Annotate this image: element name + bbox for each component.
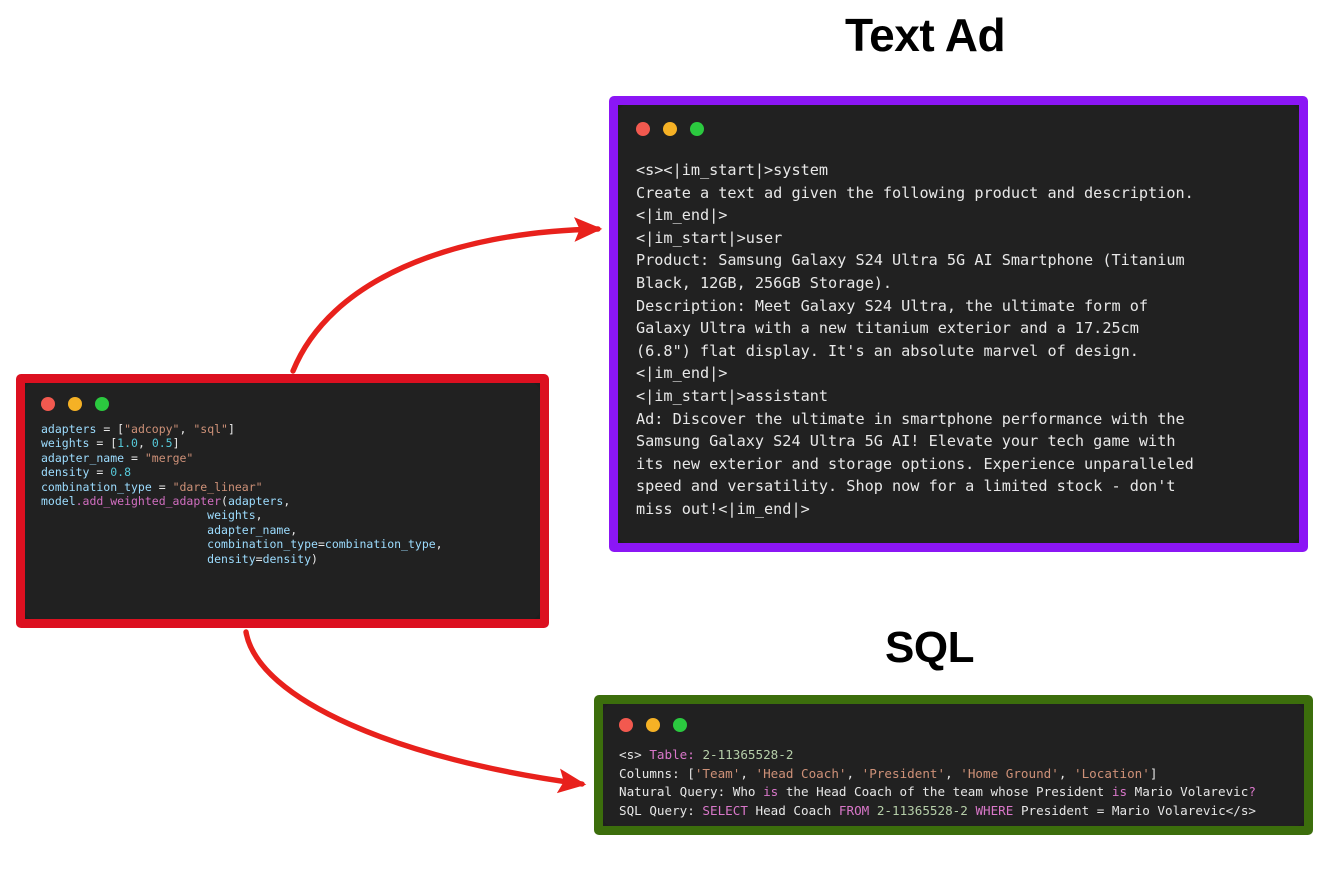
code-token: weights <box>207 508 255 522</box>
code-line: Ad: Discover the ultimate in smartphone … <box>636 408 1281 431</box>
code-line: SQL Query: SELECT Head Coach FROM 2-1136… <box>619 802 1288 821</box>
code-token: , <box>740 766 755 781</box>
code-token: ] <box>228 422 235 436</box>
code-token: ( <box>221 494 228 508</box>
code-line: adapter_name, <box>41 523 524 537</box>
code-line: adapter_name = "merge" <box>41 451 524 465</box>
merge-code-terminal: adapters = ["adcopy", "sql"]weights = [1… <box>16 374 549 628</box>
code-line: weights = [1.0, 0.5] <box>41 436 524 450</box>
code-token: its new exterior and storage options. Ex… <box>636 455 1194 473</box>
code-token: President = Mario Volarevic</s> <box>1013 803 1256 818</box>
code-token: density <box>207 552 255 566</box>
code-token: Description: Meet Galaxy S24 Ultra, the … <box>636 297 1148 315</box>
code-token: model <box>41 494 76 508</box>
code-line: <|im_end|> <box>636 362 1281 385</box>
code-line: weights, <box>41 508 524 522</box>
code-token: = [ <box>103 422 124 436</box>
code-line: density=density) <box>41 552 524 566</box>
code-line: Natural Query: Who is the Head Coach of … <box>619 783 1288 802</box>
code-line: <s> Table: 2-11365528-2 <box>619 746 1288 765</box>
code-line: Description: Meet Galaxy S24 Ultra, the … <box>636 295 1281 318</box>
code-token <box>869 803 877 818</box>
code-token: ] <box>173 436 180 450</box>
code-line: <|im_start|>user <box>636 227 1281 250</box>
code-token: "sql" <box>193 422 228 436</box>
sql-prompt-terminal: <s> Table: 2-11365528-2Columns: ['Team',… <box>594 695 1313 835</box>
code-token: <|im_end|> <box>636 364 727 382</box>
code-token: = [ <box>96 436 117 450</box>
sql-code-block: <s> Table: 2-11365528-2Columns: ['Team',… <box>619 746 1288 820</box>
maximize-dot[interactable] <box>690 122 704 136</box>
code-line: Galaxy Ultra with a new titanium exterio… <box>636 317 1281 340</box>
code-token: 'Team' <box>695 766 741 781</box>
code-token: = <box>159 480 173 494</box>
code-token: = <box>256 552 263 566</box>
code-line: speed and versatility. Shop now for a li… <box>636 475 1281 498</box>
code-token: (6.8") flat display. It's an absolute ma… <box>636 342 1139 360</box>
code-token: "merge" <box>145 451 193 465</box>
code-token: Table: <box>649 747 695 762</box>
textad-terminal-body: <s><|im_start|>systemCreate a text ad gi… <box>618 105 1299 543</box>
arrow-merge-to-textad <box>293 229 598 371</box>
code-token: Mario Volarevic <box>1127 784 1248 799</box>
code-token: Head Coach <box>748 803 839 818</box>
minimize-dot[interactable] <box>646 718 660 732</box>
code-token: is <box>763 784 778 799</box>
code-line: Black, 12GB, 256GB Storage). <box>636 272 1281 295</box>
code-token: Samsung Galaxy S24 Ultra 5G AI! Elevate … <box>636 432 1175 450</box>
code-token: weights <box>41 436 96 450</box>
code-token: 'President' <box>862 766 945 781</box>
code-token: density <box>41 465 96 479</box>
code-token: density <box>263 552 311 566</box>
code-token: 'Location' <box>1074 766 1150 781</box>
code-token: Natural Query: Who <box>619 784 763 799</box>
page-title-text-ad: Text Ad <box>845 8 1005 62</box>
code-line: <|im_end|> <box>636 204 1281 227</box>
code-token: , <box>283 494 290 508</box>
code-line: its new exterior and storage options. Ex… <box>636 453 1281 476</box>
code-line: Samsung Galaxy S24 Ultra 5G AI! Elevate … <box>636 430 1281 453</box>
merge-code-block: adapters = ["adcopy", "sql"]weights = [1… <box>41 422 524 566</box>
minimize-dot[interactable] <box>68 397 82 411</box>
code-token: = <box>96 465 110 479</box>
close-dot[interactable] <box>636 122 650 136</box>
code-token: adapter_name <box>207 523 290 537</box>
code-token: Black, 12GB, 256GB Storage). <box>636 274 892 292</box>
code-token: adapter_name <box>41 451 131 465</box>
code-token: miss out!<|im_end|> <box>636 500 810 518</box>
code-token: combination_type <box>41 480 159 494</box>
code-line: combination_type = "dare_linear" <box>41 480 524 494</box>
code-token <box>41 523 207 537</box>
code-token: , <box>290 523 297 537</box>
code-line: <s><|im_start|>system <box>636 159 1281 182</box>
sql-terminal-body: <s> Table: 2-11365528-2Columns: ['Team',… <box>603 704 1304 826</box>
code-token: <|im_start|>user <box>636 229 782 247</box>
code-token: "dare_linear" <box>173 480 263 494</box>
code-token: WHERE <box>975 803 1013 818</box>
code-token: SQL Query: <box>619 803 702 818</box>
textad-prompt-terminal: <s><|im_start|>systemCreate a text ad gi… <box>609 96 1308 552</box>
code-token: Product: Samsung Galaxy S24 Ultra 5G AI … <box>636 251 1185 269</box>
code-line: (6.8") flat display. It's an absolute ma… <box>636 340 1281 363</box>
minimize-dot[interactable] <box>663 122 677 136</box>
code-token: <|im_end|> <box>636 206 727 224</box>
code-token: ] <box>1150 766 1158 781</box>
code-token: speed and versatility. Shop now for a li… <box>636 477 1175 495</box>
code-token: combination_type <box>325 537 436 551</box>
code-token: Columns: [ <box>619 766 695 781</box>
code-token: <s> <box>619 747 649 762</box>
code-token: .add_weighted_adapter <box>76 494 221 508</box>
code-token: adapters <box>228 494 283 508</box>
code-line: Columns: ['Team', 'Head Coach', 'Preside… <box>619 765 1288 784</box>
code-token <box>41 552 207 566</box>
code-token: Galaxy Ultra with a new titanium exterio… <box>636 319 1139 337</box>
code-token: is <box>1112 784 1127 799</box>
code-token: FROM <box>839 803 869 818</box>
window-controls <box>41 396 524 412</box>
code-token: , <box>1059 766 1074 781</box>
code-line: combination_type=combination_type, <box>41 537 524 551</box>
code-token: adapters <box>41 422 103 436</box>
code-token <box>41 508 207 522</box>
textad-code-block: <s><|im_start|>systemCreate a text ad gi… <box>636 159 1281 521</box>
code-token: <|im_start|>assistant <box>636 387 828 405</box>
code-token: 0.5 <box>152 436 173 450</box>
code-line: Product: Samsung Galaxy S24 Ultra 5G AI … <box>636 249 1281 272</box>
window-controls <box>619 717 1288 733</box>
code-token: ) <box>311 552 318 566</box>
code-token: = <box>131 451 145 465</box>
code-token: , <box>179 422 193 436</box>
code-token: , <box>256 508 263 522</box>
code-token: Create a text ad given the following pro… <box>636 184 1194 202</box>
code-token: ? <box>1248 784 1256 799</box>
code-token: 'Home Ground' <box>960 766 1059 781</box>
code-line: adapters = ["adcopy", "sql"] <box>41 422 524 436</box>
code-line: miss out!<|im_end|> <box>636 498 1281 521</box>
code-token: , <box>847 766 862 781</box>
code-token: , <box>436 537 443 551</box>
merge-terminal-body: adapters = ["adcopy", "sql"]weights = [1… <box>25 383 540 619</box>
code-token: , <box>945 766 960 781</box>
code-line: density = 0.8 <box>41 465 524 479</box>
code-token: , <box>138 436 152 450</box>
code-token: "adcopy" <box>124 422 179 436</box>
window-controls <box>636 121 1281 137</box>
close-dot[interactable] <box>619 718 633 732</box>
maximize-dot[interactable] <box>95 397 109 411</box>
code-token: = <box>318 537 325 551</box>
page-title-sql: SQL <box>885 623 974 673</box>
code-token: combination_type <box>207 537 318 551</box>
code-token: 'Head Coach' <box>756 766 847 781</box>
code-token <box>41 537 207 551</box>
close-dot[interactable] <box>41 397 55 411</box>
code-token: 2-11365528-2 <box>877 803 968 818</box>
code-token: SELECT <box>702 803 748 818</box>
code-token: 0.8 <box>110 465 131 479</box>
code-token: the Head Coach of the team whose Preside… <box>778 784 1112 799</box>
code-line: model.add_weighted_adapter(adapters, <box>41 494 524 508</box>
code-token: 1.0 <box>117 436 138 450</box>
code-token: 2-11365528-2 <box>702 747 793 762</box>
maximize-dot[interactable] <box>673 718 687 732</box>
code-line: <|im_start|>assistant <box>636 385 1281 408</box>
code-token: <s><|im_start|>system <box>636 161 828 179</box>
code-line: Create a text ad given the following pro… <box>636 182 1281 205</box>
code-token: Ad: Discover the ultimate in smartphone … <box>636 410 1185 428</box>
arrow-merge-to-sql <box>246 632 582 784</box>
